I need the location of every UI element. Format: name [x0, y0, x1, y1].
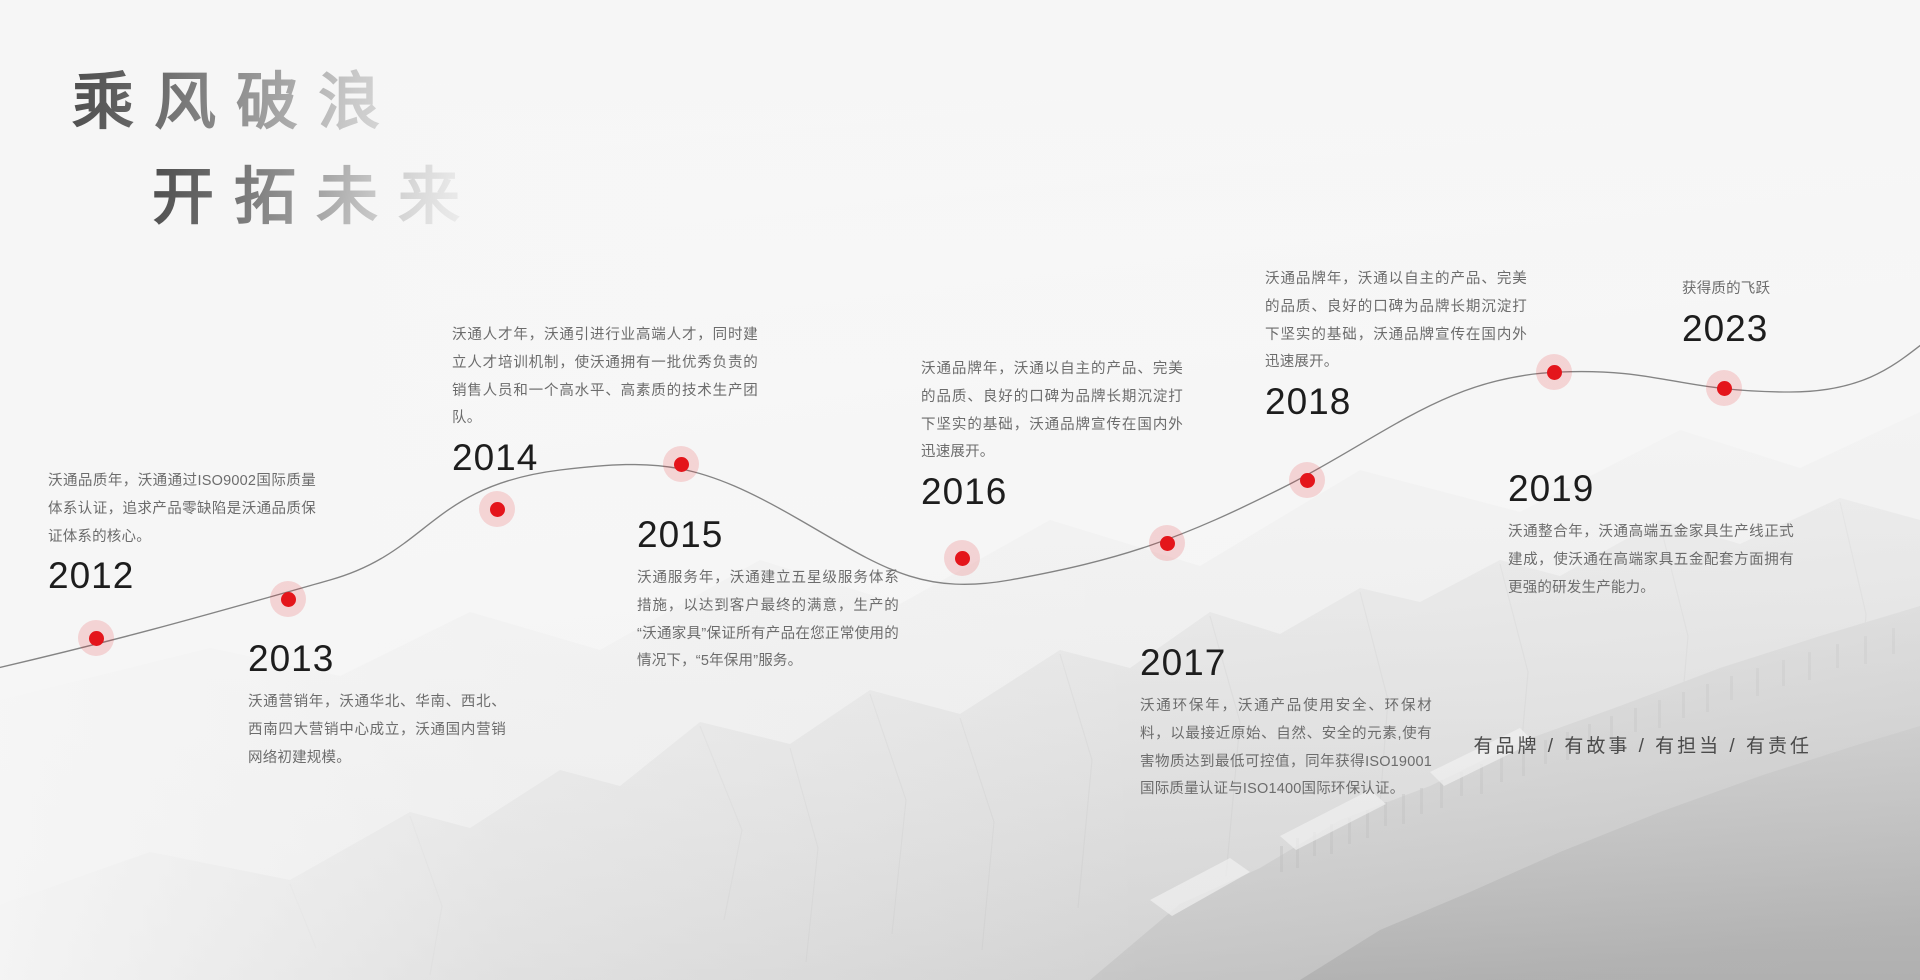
entry-description: 沃通服务年，沃通建立五星级服务体系措施，以达到客户最终的满意，生产的“沃通家具”…: [637, 565, 899, 676]
entry-year-label: 2013: [248, 640, 506, 677]
entry-year-label: 2014: [452, 439, 758, 476]
timeline-entry-2015: 2015沃通服务年，沃通建立五星级服务体系措施，以达到客户最终的满意，生产的“沃…: [637, 516, 899, 676]
entry-year-label: 2012: [48, 557, 316, 594]
entry-description: 沃通品质年，沃通通过ISO9002国际质量体系认证，追求产品零缺陷是沃通品质保证…: [48, 468, 316, 551]
entry-description: 获得质的飞跃: [1682, 276, 1912, 304]
timeline-entry-2016: 沃通品牌年，沃通以自主的产品、完美的品质、良好的口碑为品牌长期沉淀打下坚实的基础…: [921, 356, 1183, 510]
title-line-2: 开拓未来: [152, 157, 480, 236]
entry-description: 沃通环保年，沃通产品使用安全、环保材料，以最接近原始、自然、安全的元素,使有害物…: [1140, 693, 1432, 804]
entry-description: 沃通品牌年，沃通以自主的产品、完美的品质、良好的口碑为品牌长期沉淀打下坚实的基础…: [1265, 266, 1527, 377]
title-line-1: 乘风破浪: [72, 62, 480, 141]
entry-year-label: 2017: [1140, 644, 1432, 681]
timeline-entry-2013: 2013沃通营销年，沃通华北、华南、西北、西南四大营销中心成立，沃通国内营销网络…: [248, 640, 506, 772]
entry-year-label: 2019: [1508, 470, 1794, 507]
timeline-entry-2012: 沃通品质年，沃通通过ISO9002国际质量体系认证，追求产品零缺陷是沃通品质保证…: [48, 468, 316, 594]
timeline-entry-2018: 沃通品牌年，沃通以自主的产品、完美的品质、良好的口碑为品牌长期沉淀打下坚实的基础…: [1265, 266, 1527, 420]
timeline-node-2017[interactable]: [1149, 525, 1185, 561]
entry-year-label: 2018: [1265, 383, 1527, 420]
footer-tagline: 有品牌 / 有故事 / 有担当 / 有责任: [1473, 731, 1812, 758]
entry-year-label: 2016: [921, 473, 1183, 510]
entry-year-label: 2015: [637, 516, 899, 553]
timeline-node-2012[interactable]: [78, 620, 114, 656]
slide-stage: 乘风破浪 开拓未来 沃通品质年，沃通通过ISO9002国际质量体系认证，追求产品…: [0, 0, 1920, 980]
timeline-entry-2019: 2019沃通整合年，沃通高端五金家具生产线正式建成，使沃通在高端家具五金配套方面…: [1508, 470, 1794, 602]
timeline-entry-2017: 2017沃通环保年，沃通产品使用安全、环保材料，以最接近原始、自然、安全的元素,…: [1140, 644, 1432, 804]
page-title: 乘风破浪 开拓未来: [72, 62, 480, 237]
timeline-node-2018[interactable]: [1289, 462, 1325, 498]
entry-description: 沃通营销年，沃通华北、华南、西北、西南四大营销中心成立，沃通国内营销网络初建规模…: [248, 689, 506, 772]
entry-year-label: 2023: [1682, 310, 1912, 347]
entry-description: 沃通整合年，沃通高端五金家具生产线正式建成，使沃通在高端家具五金配套方面拥有更强…: [1508, 519, 1794, 602]
timeline-entry-2023: 获得质的飞跃2023: [1682, 276, 1912, 347]
entry-description: 沃通品牌年，沃通以自主的产品、完美的品质、良好的口碑为品牌长期沉淀打下坚实的基础…: [921, 356, 1183, 467]
timeline-node-2019[interactable]: [1536, 354, 1572, 390]
timeline-node-2016[interactable]: [944, 540, 980, 576]
timeline-entry-2014: 沃通人才年，沃通引进行业高端人才，同时建立人才培训机制，使沃通拥有一批优秀负责的…: [452, 322, 758, 476]
timeline-node-2023[interactable]: [1706, 370, 1742, 406]
entry-description: 沃通人才年，沃通引进行业高端人才，同时建立人才培训机制，使沃通拥有一批优秀负责的…: [452, 322, 758, 433]
timeline-node-2014[interactable]: [479, 491, 515, 527]
